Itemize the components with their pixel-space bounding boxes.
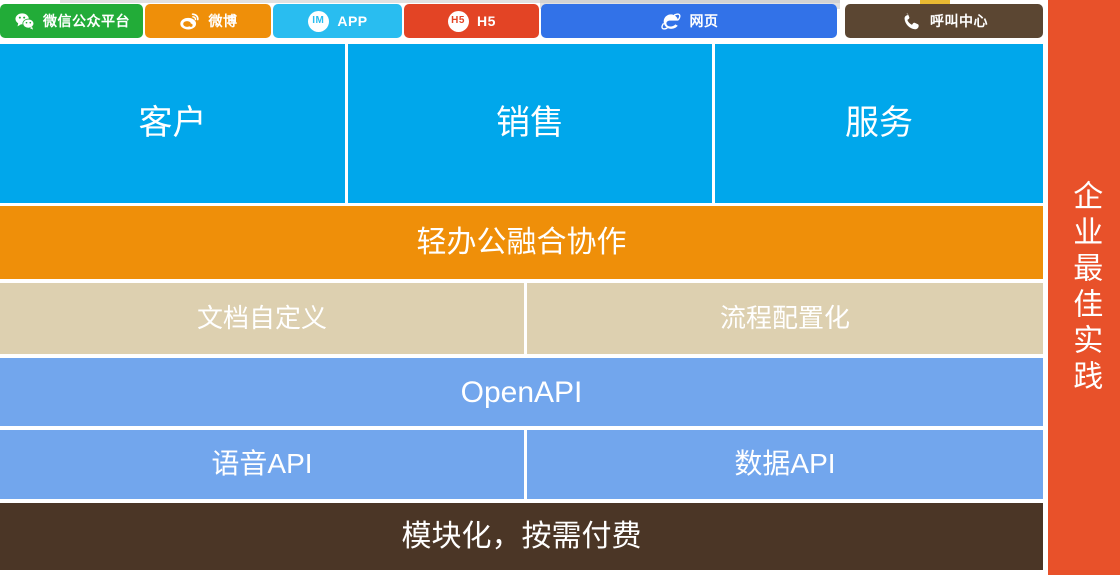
api-cell-data[interactable]: 数据API	[527, 430, 1043, 499]
api-cell-voice-label: 语音API	[211, 449, 312, 480]
business-cell-service-label: 服务	[845, 105, 913, 142]
api-cell-voice[interactable]: 语音API	[0, 430, 524, 499]
modular-pricing-label: 模块化，按需付费	[402, 520, 642, 553]
business-cell-customer-label: 客户	[139, 105, 207, 142]
configuration-row: 文档自定义 流程配置化	[0, 283, 1043, 354]
wechat-icon	[13, 10, 35, 32]
channel-app-label: APP	[337, 13, 367, 29]
channel-wechat-label: 微信公众平台	[43, 11, 130, 31]
modular-pricing-row: 模块化，按需付费	[0, 503, 1043, 570]
business-cell-service[interactable]: 服务	[715, 44, 1043, 203]
channel-h5-label: H5	[477, 13, 496, 29]
weibo-icon	[179, 10, 201, 32]
openapi-row: OpenAPI	[0, 358, 1043, 426]
channel-weibo-label: 微博	[209, 11, 238, 31]
best-practice-banner-label: 企业最佳实践	[1067, 180, 1102, 396]
channel-h5[interactable]: H5 H5	[404, 4, 539, 38]
phone-icon	[900, 10, 922, 32]
im-icon: IM	[307, 10, 329, 32]
api-cell-data-label: 数据API	[734, 449, 835, 480]
office-collaboration-label: 轻办公融合协作	[417, 226, 627, 259]
config-cell-workflow[interactable]: 流程配置化	[527, 283, 1043, 354]
config-cell-document-label: 文档自定义	[197, 304, 327, 333]
office-collaboration-cell[interactable]: 轻办公融合协作	[0, 206, 1043, 279]
business-capability-row: 客户 销售 服务	[0, 44, 1043, 203]
ie-browser-icon	[660, 10, 682, 32]
office-collaboration-row: 轻办公融合协作	[0, 206, 1043, 279]
im-badge-text: IM	[308, 11, 329, 32]
api-row: 语音API 数据API	[0, 430, 1043, 499]
business-cell-sales[interactable]: 销售	[348, 44, 712, 203]
business-cell-customer[interactable]: 客户	[0, 44, 345, 203]
h5-badge-text: H5	[448, 11, 469, 32]
best-practice-banner: 企业最佳实践	[1048, 0, 1120, 575]
business-cell-sales-label: 销售	[496, 105, 564, 142]
diagram-canvas: 微信公众平台 微博 IM APP H5	[0, 0, 1120, 575]
channel-app[interactable]: IM APP	[273, 4, 402, 38]
channel-weibo[interactable]: 微博	[145, 4, 271, 38]
h5-icon: H5	[447, 10, 469, 32]
channel-call-center[interactable]: 呼叫中心	[845, 4, 1043, 38]
channel-bar: 微信公众平台 微博 IM APP H5	[0, 0, 1043, 40]
openapi-label: OpenAPI	[461, 376, 583, 409]
channel-webpage[interactable]: 网页	[541, 4, 837, 38]
channel-call-center-label: 呼叫中心	[930, 11, 988, 31]
openapi-cell[interactable]: OpenAPI	[0, 358, 1043, 426]
channel-webpage-label: 网页	[690, 11, 719, 31]
modular-pricing-cell[interactable]: 模块化，按需付费	[0, 503, 1043, 570]
config-cell-workflow-label: 流程配置化	[720, 304, 850, 333]
config-cell-document[interactable]: 文档自定义	[0, 283, 524, 354]
channel-wechat[interactable]: 微信公众平台	[0, 4, 143, 38]
